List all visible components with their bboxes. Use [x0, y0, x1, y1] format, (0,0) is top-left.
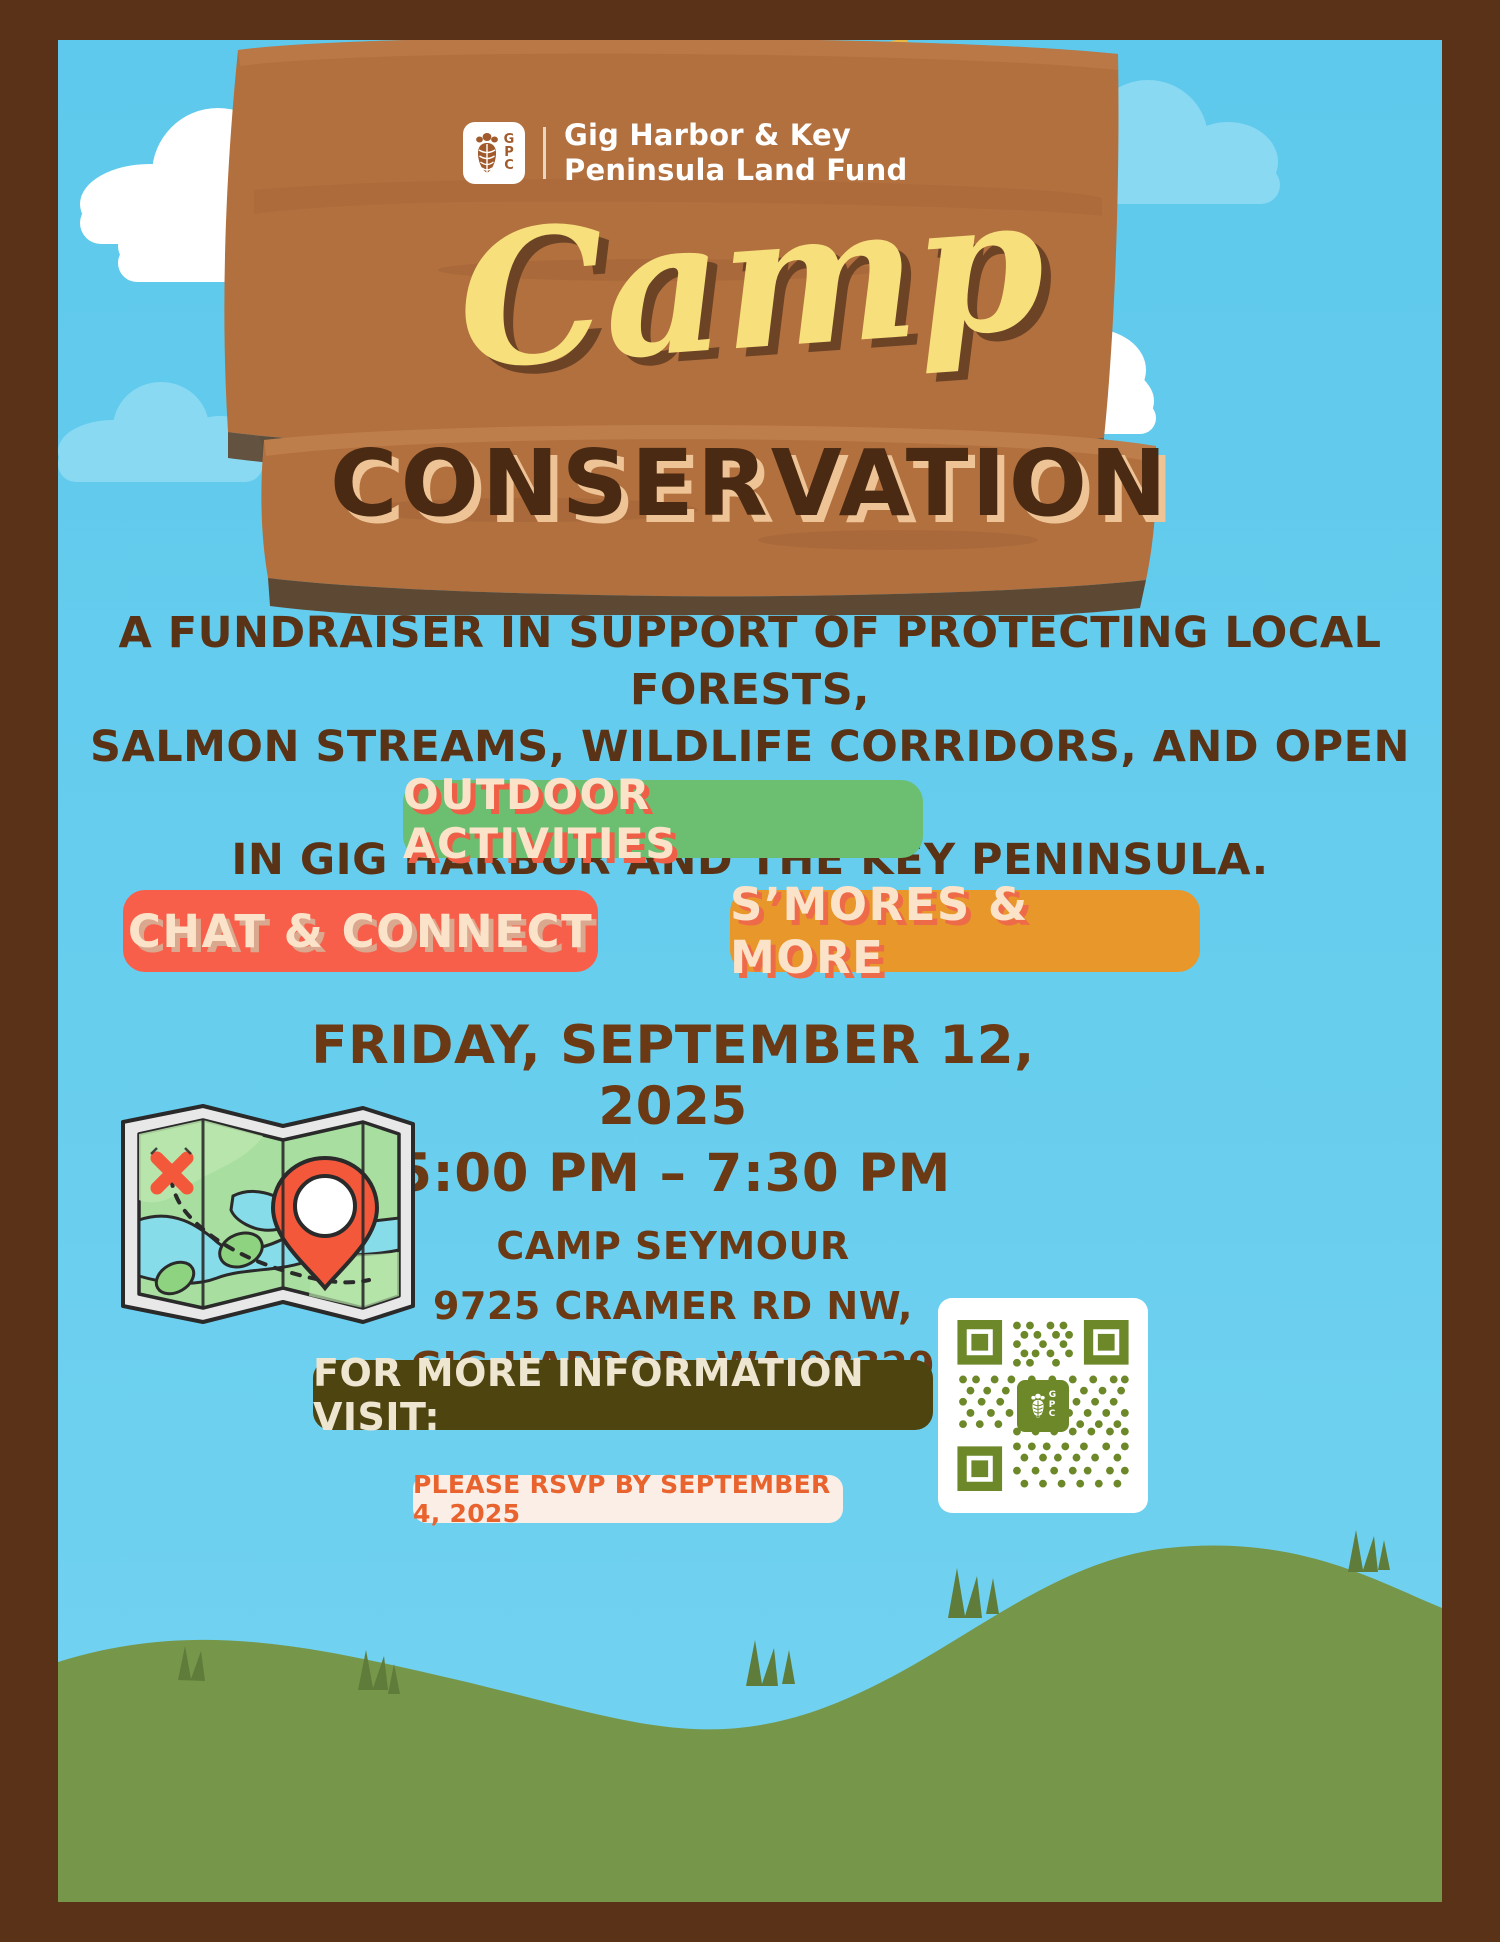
qr-pinecone-icon [1030, 1392, 1046, 1420]
flyer-poster: G P C Gig Harbor & Key Peninsula Land Fu… [0, 0, 1500, 1942]
brand-mark-letters: G P C [504, 133, 515, 172]
qr-code[interactable]: GPC [938, 1298, 1148, 1513]
pinecone-glyph [474, 132, 500, 174]
qr-center-logo: GPC [1017, 1380, 1069, 1432]
flyer-canvas: G P C Gig Harbor & Key Peninsula Land Fu… [58, 40, 1442, 1902]
brand-name-line1: Gig Harbor & Key [564, 118, 907, 153]
pill-chat-connect[interactable]: CHAT & CONNECT [123, 890, 598, 972]
qr-logo-letters: GPC [1049, 1391, 1056, 1419]
map-illustration [113, 1100, 423, 1330]
pill-smores-more[interactable]: S’MORES & MORE [730, 890, 1200, 972]
headline-block: CONSERVATION [58, 430, 1442, 537]
brand-divider [543, 127, 546, 179]
description-line-1: A FUNDRAISER IN SUPPORT OF PROTECTING LO… [88, 605, 1412, 719]
rsvp-badge: PLEASE RSVP BY SEPTEMBER 4, 2025 [413, 1475, 843, 1523]
pill-outdoor-activities[interactable]: OUTDOOR ACTIVITIES [403, 780, 923, 858]
pinecone-icon: G P C [463, 122, 525, 184]
more-info-bar[interactable]: FOR MORE INFORMATION VISIT: [313, 1360, 933, 1430]
